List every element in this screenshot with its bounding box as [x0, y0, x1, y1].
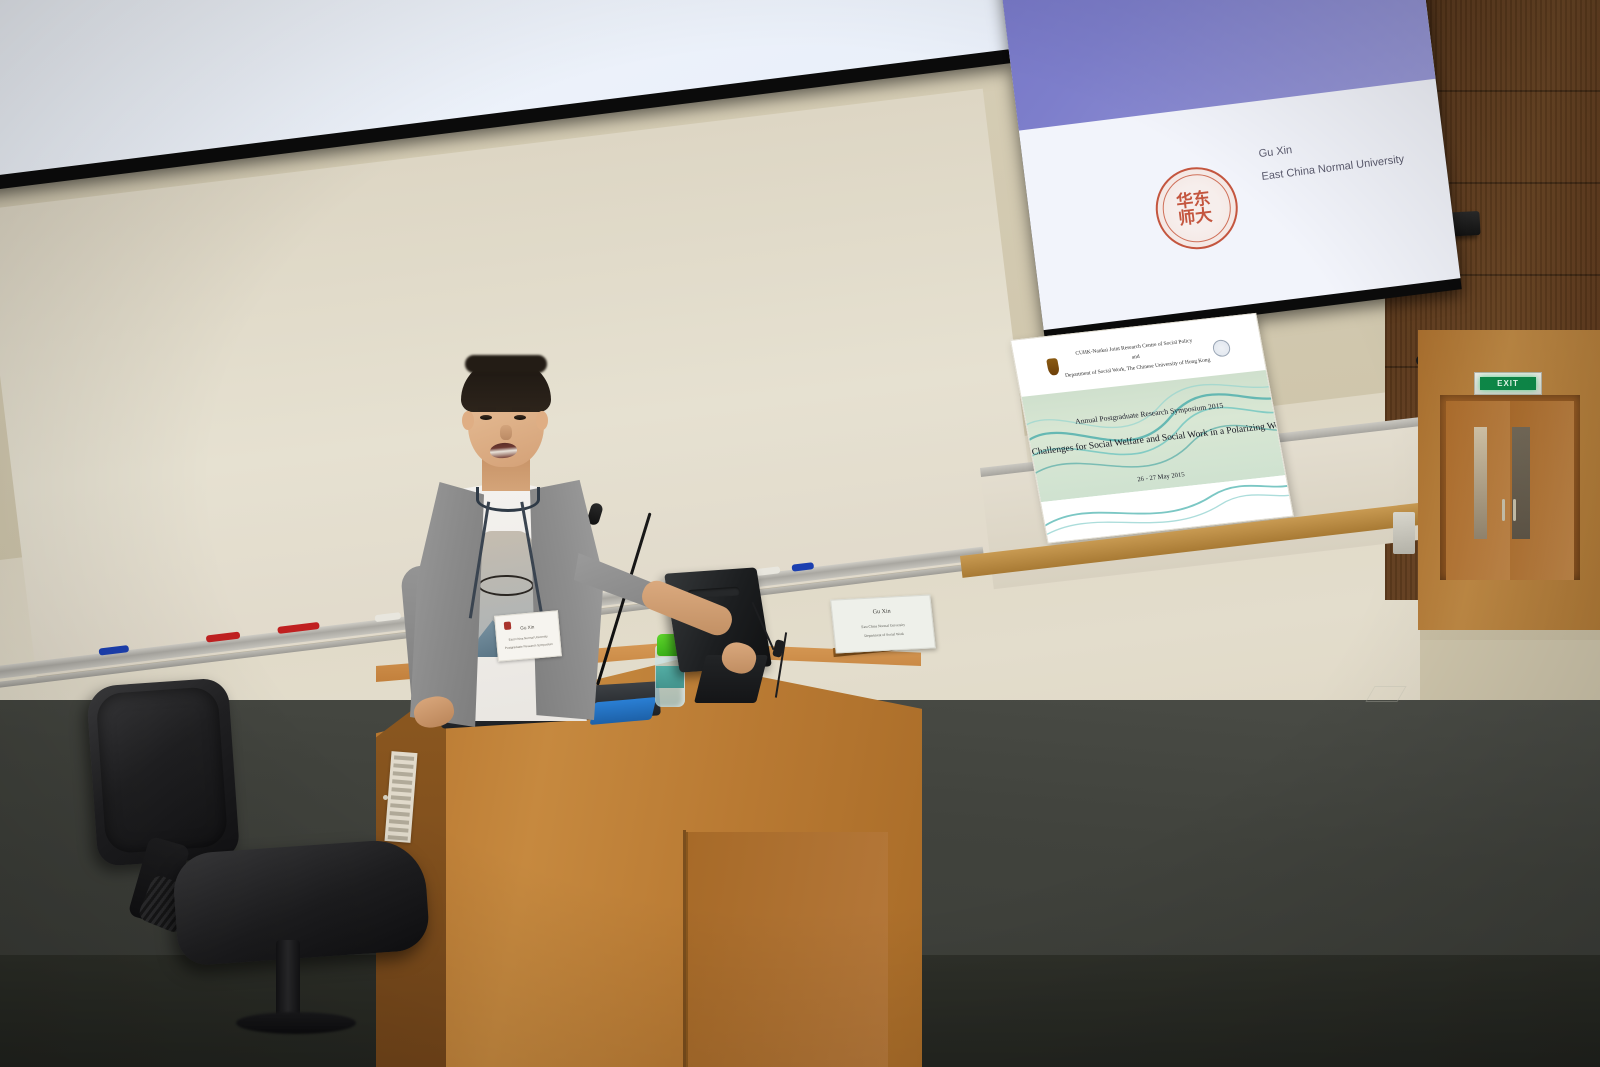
door-glass-right: [1512, 427, 1530, 539]
presenter-ear-left: [462, 411, 474, 430]
exit-sign-text: EXIT: [1480, 377, 1536, 390]
office-chair-seat[interactable]: [171, 837, 430, 966]
symposium-banner: CUHK-Nankai Joint Research Centre of Soc…: [1010, 313, 1294, 544]
marker-blue-2[interactable]: [791, 562, 814, 572]
exit-double-door[interactable]: [1440, 395, 1580, 580]
presenter-brow-left: [478, 407, 496, 411]
door-handle-right[interactable]: [1513, 499, 1516, 521]
slide-title-band: [978, 0, 1435, 130]
office-chair-base: [236, 1012, 356, 1034]
door-handle-left[interactable]: [1502, 499, 1505, 521]
ecnu-seal-slide: 华东师大: [1151, 162, 1243, 254]
podium-lock-icon[interactable]: [383, 795, 388, 800]
presenter-name-badge: Gu Xin East China Normal University Post…: [494, 610, 562, 661]
door-glass-left: [1474, 427, 1487, 539]
waste-bin: [1393, 512, 1415, 554]
door-leaf-right[interactable]: [1510, 401, 1574, 580]
presenter: Gu Xin East China Normal University Post…: [404, 355, 634, 755]
marker-white-4[interactable]: [756, 566, 781, 576]
secondary-projection-screen: Positive Identity Study of Urban Immigra…: [978, 0, 1462, 341]
podium-front-panel: [686, 832, 888, 1067]
presenter-brow-right: [512, 407, 530, 411]
presenter-ear-right: [536, 411, 548, 430]
lecture-hall-scene: 华东师大 East China Normal University Positi…: [0, 0, 1600, 1067]
presenter-nose: [500, 425, 512, 440]
nankai-logo-icon: [1046, 358, 1060, 376]
door-leaf-left[interactable]: [1446, 401, 1510, 580]
slide-author-block: Gu Xin East China Normal University: [1257, 125, 1405, 189]
podium-panel-seam: [683, 830, 686, 1067]
speaker-name-card: Gu Xin East China Normal University Depa…: [830, 595, 936, 654]
office-chair-gas-post: [276, 940, 300, 1018]
presenter-eye-right: [514, 415, 526, 420]
presenter-hair: [461, 360, 551, 412]
office-chair-backrest[interactable]: [86, 677, 240, 866]
presenter-cardigan-right: [530, 475, 610, 720]
presenter-eye-left: [480, 415, 492, 420]
exit-sign: EXIT: [1474, 372, 1542, 395]
name-card-name: Gu Xin: [832, 607, 931, 618]
ecnu-seal-slide-label: 华东师大: [1175, 189, 1218, 228]
cuhk-logo-icon: [1212, 339, 1232, 358]
